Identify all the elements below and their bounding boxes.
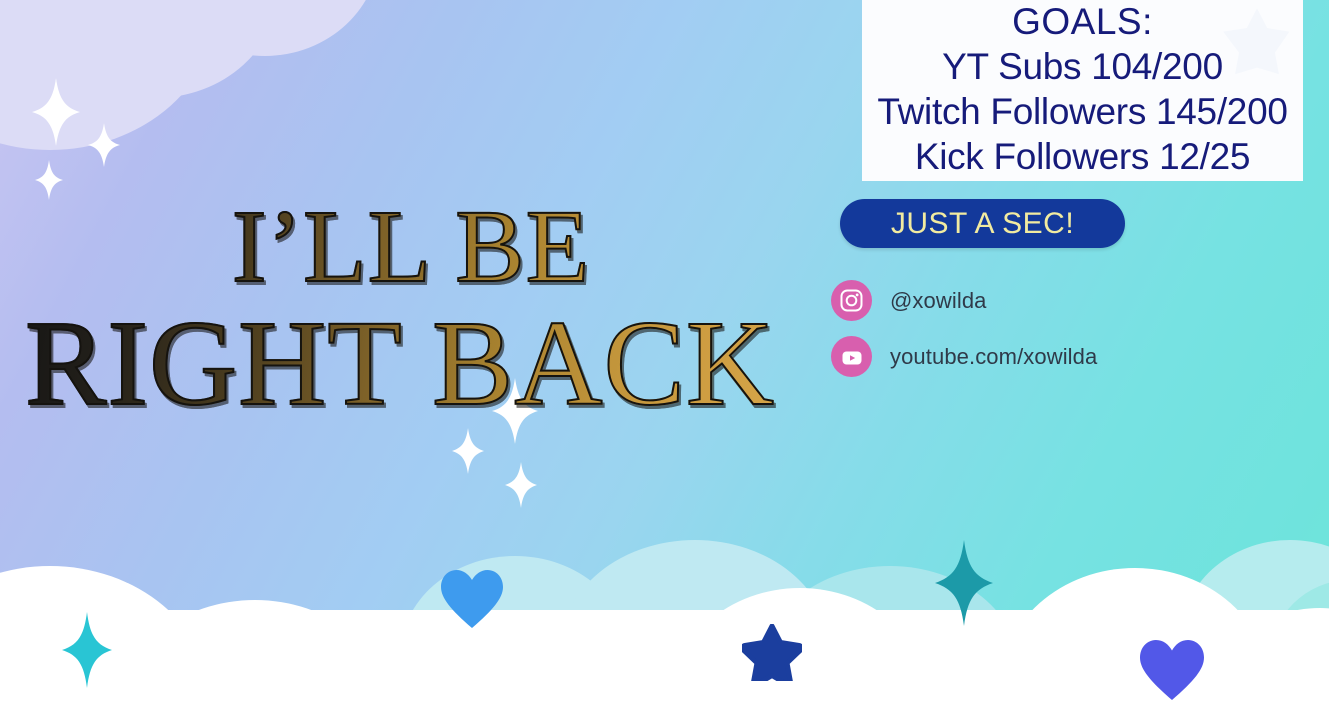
social-row-instagram[interactable]: @xowilda [831, 280, 987, 321]
sparkle-diamond-white-5 [452, 428, 484, 474]
heart-blue-icon [441, 570, 503, 628]
goal-item-yt-subs: YT Subs 104/200 [942, 44, 1223, 89]
youtube-icon[interactable] [831, 336, 872, 377]
sparkle-diamond-white-6 [505, 462, 537, 508]
sparkle-diamond-white-4 [492, 378, 538, 444]
youtube-url: youtube.com/xowilda [890, 344, 1097, 370]
star-watermark-icon [1221, 4, 1293, 76]
sparkle-teal-left-icon [62, 612, 112, 688]
social-row-youtube[interactable]: youtube.com/xowilda [831, 336, 1097, 377]
just-a-sec-label: JUST A SEC! [891, 207, 1074, 241]
heart-periwinkle-icon [1140, 640, 1204, 700]
sparkle-diamond-white-3 [35, 160, 63, 200]
instagram-icon[interactable] [831, 280, 872, 321]
star-navy-icon [742, 624, 802, 681]
instagram-handle: @xowilda [890, 288, 987, 314]
goals-heading: GOALS: [1012, 0, 1153, 44]
goal-item-twitch-followers: Twitch Followers 145/200 [877, 89, 1287, 134]
sparkle-teal-right-icon [935, 540, 993, 626]
sparkle-diamond-white-2 [88, 123, 120, 167]
stream-overlay-stage: I’LL BE RIGHT BACK GOALS: YT Subs 104/20… [0, 0, 1329, 720]
goals-panel: GOALS: YT Subs 104/200 Twitch Followers … [862, 0, 1303, 181]
just-a-sec-button[interactable]: JUST A SEC! [840, 199, 1125, 248]
sparkle-diamond-white-1 [32, 78, 80, 146]
goal-item-kick-followers: Kick Followers 12/25 [915, 134, 1250, 179]
